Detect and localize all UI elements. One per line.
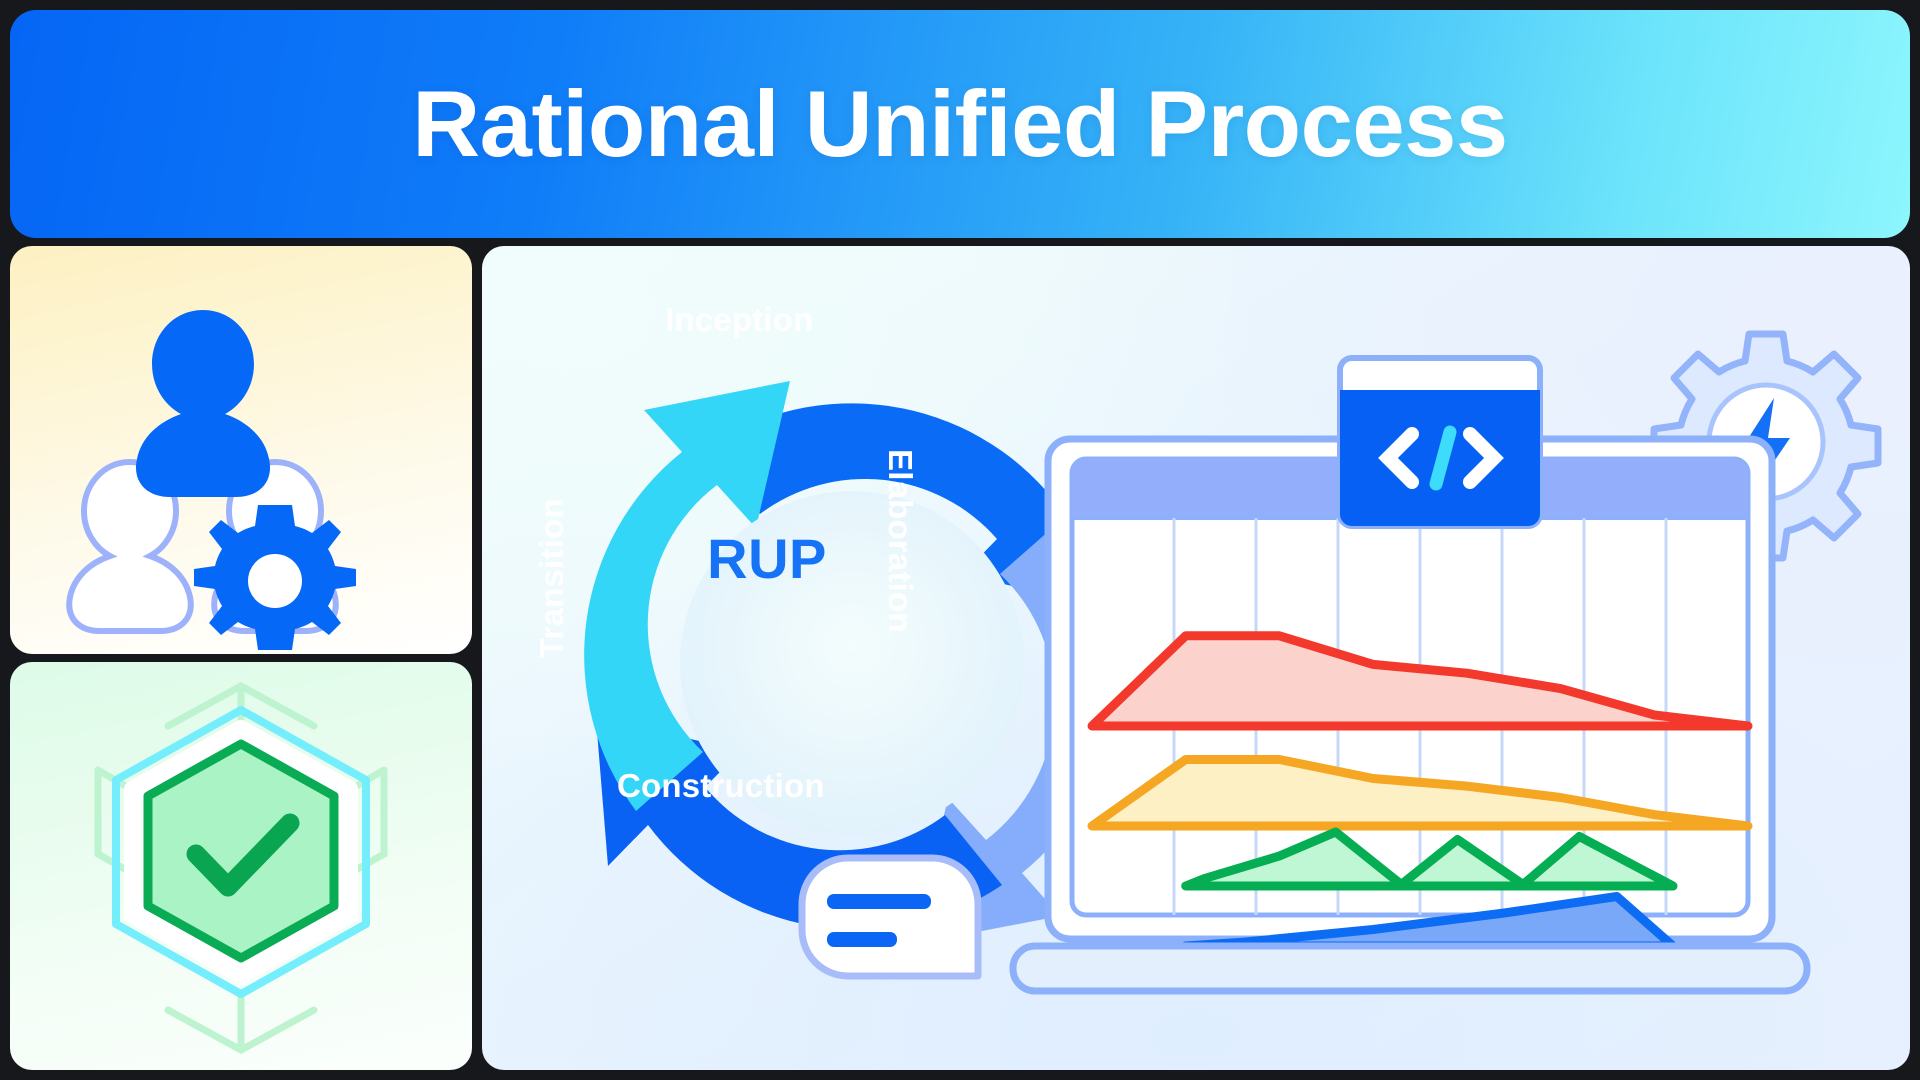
hexagon-inner (148, 744, 334, 958)
chat-bubble-icon (802, 858, 978, 976)
page-header: Rational Unified Process (10, 10, 1910, 238)
page-title: Rational Unified Process (412, 70, 1507, 178)
poster-root: Rational Unified Process (0, 0, 1920, 1080)
rup-diagram-panel: Inception Elaboration Construction Trans… (482, 246, 1910, 1070)
team-card (10, 246, 472, 654)
hexagon-check-badge-icon (10, 662, 472, 1070)
team-leader-silhouette (136, 310, 270, 497)
gear-icon (194, 505, 356, 650)
team-people-gear-icon (10, 246, 472, 654)
quality-card (10, 662, 472, 1070)
chat-bubble-layer (482, 246, 1910, 1070)
